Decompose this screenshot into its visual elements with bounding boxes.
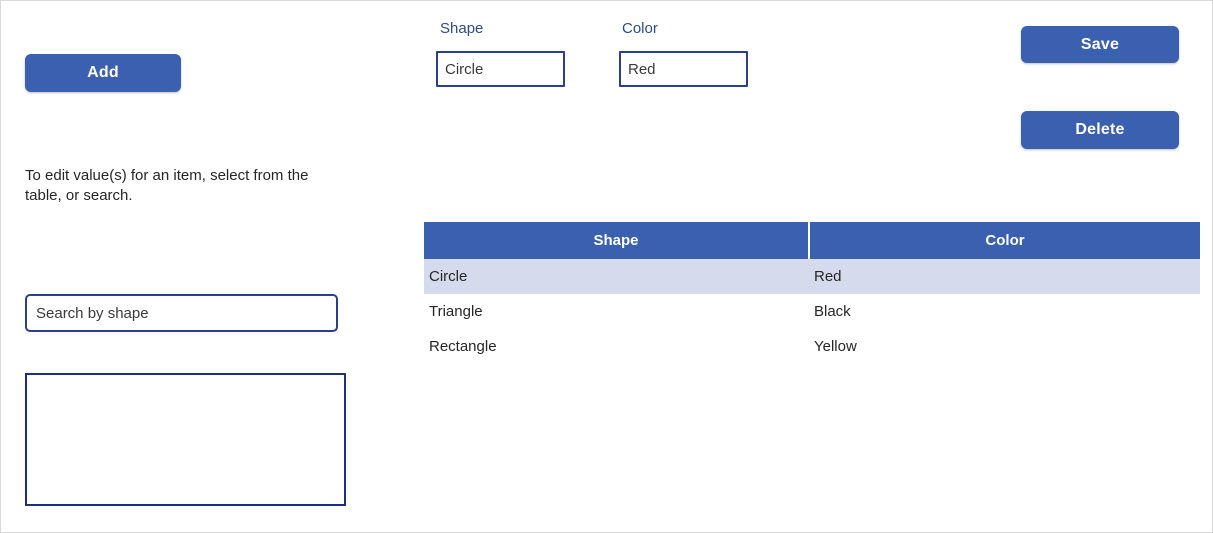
search-input[interactable] [25,294,338,332]
column-header-color[interactable]: Color [809,222,1200,259]
instructions-text: To edit value(s) for an item, select fro… [25,166,325,206]
table-row[interactable]: Rectangle Yellow [424,329,1200,364]
table-row[interactable]: Triangle Black [424,294,1200,329]
color-input[interactable] [619,51,748,87]
shapes-table[interactable]: Shape Color Circle Red Triangle Black Re… [424,222,1200,364]
color-field-label: Color [622,20,658,38]
cell-shape[interactable]: Triangle [424,294,809,329]
column-header-shape[interactable]: Shape [424,222,809,259]
add-button[interactable]: Add [25,54,181,92]
table-row[interactable]: Circle Red [424,259,1200,294]
cell-color[interactable]: Yellow [809,329,1200,364]
cell-color[interactable]: Red [809,259,1200,294]
cell-shape[interactable]: Circle [424,259,809,294]
delete-button[interactable]: Delete [1021,111,1179,149]
shape-input[interactable] [436,51,565,87]
search-results-textarea[interactable] [25,373,346,506]
shape-field-label: Shape [440,20,483,38]
cell-shape[interactable]: Rectangle [424,329,809,364]
save-button[interactable]: Save [1021,26,1179,63]
cell-color[interactable]: Black [809,294,1200,329]
table-body: Circle Red Triangle Black Rectangle Yell… [424,259,1200,364]
table-header-row: Shape Color [424,222,1200,259]
app-window: Add Shape Color Save Delete To edit valu… [0,0,1213,533]
table-header: Shape Color [424,222,1200,259]
